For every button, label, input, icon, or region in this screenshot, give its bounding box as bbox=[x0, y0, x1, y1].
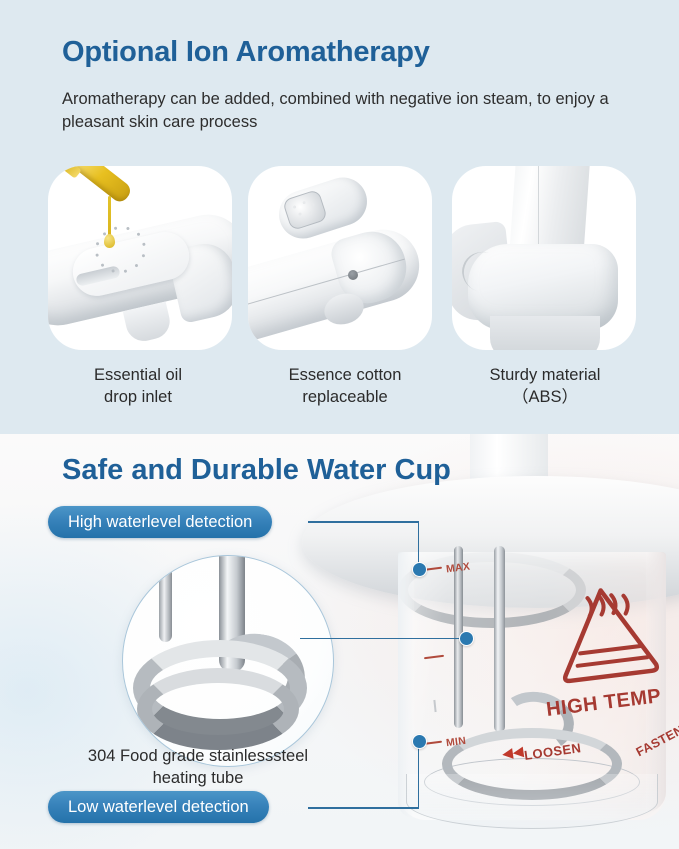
section-title-water-cup: Safe and Durable Water Cup bbox=[62, 454, 451, 487]
callout-connector-high-horizontal bbox=[308, 521, 419, 523]
caption-line-1: Essence cotton bbox=[289, 366, 402, 384]
callout-connector-high-vertical bbox=[418, 521, 420, 568]
callout-dot-heating-tube bbox=[459, 631, 474, 646]
caption-line-2: （ABS） bbox=[512, 388, 578, 406]
caption-line-1: Essential oil bbox=[94, 366, 182, 384]
magnifier-caption-line-2: heating tube bbox=[153, 769, 244, 787]
loosen-arrows-icon: ◀◀ bbox=[501, 743, 525, 763]
heating-tube-magnifier-photo bbox=[122, 555, 334, 767]
feature-card-caption: Sturdy material （ABS） bbox=[448, 364, 642, 408]
callout-dot-low bbox=[412, 734, 427, 749]
aromatherapy-section: Optional Ion Aromatherapy Aromatherapy c… bbox=[0, 0, 679, 434]
feature-card-caption: Essential oil drop inlet bbox=[48, 364, 228, 408]
caption-line-2: drop inlet bbox=[104, 388, 172, 406]
high-temperature-warning-icon bbox=[548, 574, 666, 694]
caption-line-2: replaceable bbox=[302, 388, 387, 406]
section-subtitle-aromatherapy: Aromatherapy can be added, combined with… bbox=[62, 88, 622, 134]
product-infographic: Optional Ion Aromatherapy Aromatherapy c… bbox=[0, 0, 679, 849]
magnifier-caption: 304 Food grade stainlesssteel heating tu… bbox=[18, 745, 378, 789]
callout-high-waterlevel-detection: High waterlevel detection bbox=[48, 506, 272, 538]
caption-line-1: Sturdy material bbox=[490, 366, 601, 384]
feature-card-essence-cotton: Essence cotton replaceable bbox=[248, 166, 442, 408]
feature-card-row: Essential oil drop inlet Essence cotton bbox=[0, 166, 679, 416]
water-cup-photo: MAX MIN HIGH TEMP bbox=[398, 552, 666, 830]
feature-card-sturdy-material: Sturdy material （ABS） bbox=[452, 166, 646, 408]
magnifier-caption-line-1: 304 Food grade stainlesssteel bbox=[88, 747, 308, 765]
feature-card-essential-oil: Essential oil drop inlet bbox=[48, 166, 242, 408]
cup-marking-min: MIN bbox=[445, 735, 466, 749]
callout-dot-high bbox=[412, 562, 427, 577]
essence-cotton-replaceable-photo bbox=[248, 166, 432, 350]
essential-oil-drop-inlet-photo bbox=[48, 166, 232, 350]
callout-low-waterlevel-detection: Low waterlevel detection bbox=[48, 791, 269, 823]
section-title-aromatherapy: Optional Ion Aromatherapy bbox=[62, 36, 430, 69]
callout-connector-low-horizontal bbox=[308, 807, 419, 809]
magnifier-connector-line bbox=[300, 638, 466, 640]
feature-card-caption: Essence cotton replaceable bbox=[248, 364, 442, 408]
oil-vial-icon bbox=[72, 166, 133, 205]
sturdy-material-abs-photo bbox=[452, 166, 636, 350]
callout-connector-low-vertical bbox=[418, 740, 420, 808]
